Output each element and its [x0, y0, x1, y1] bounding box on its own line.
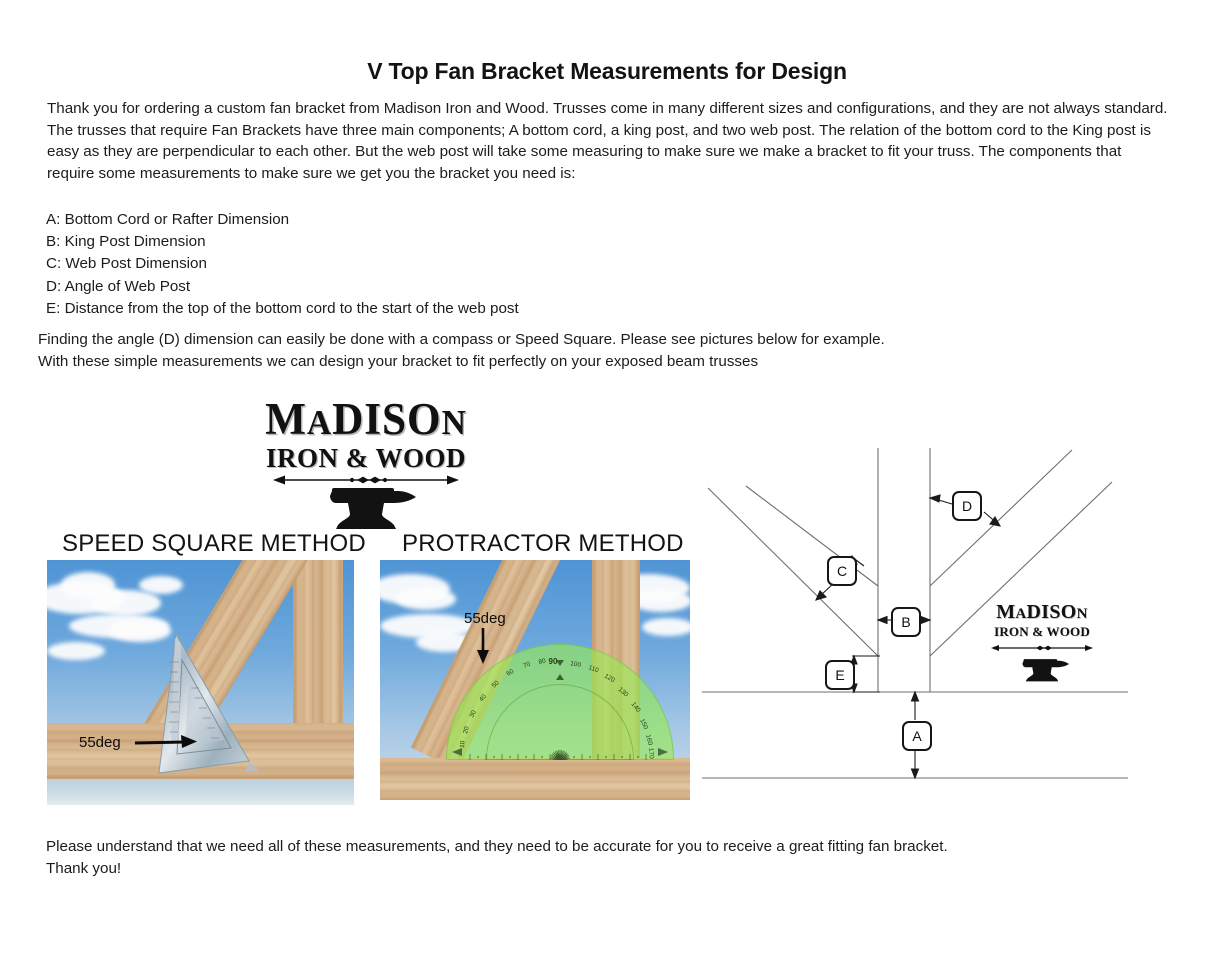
angle-label-protractor: 55deg [464, 610, 506, 627]
right-arrow-icon [133, 732, 201, 752]
svg-text:50: 50 [491, 679, 501, 689]
photo-speed-square-method: 55deg [47, 560, 354, 805]
photo-protractor-method: 90 70 80 100 110 60 50 40 30 20 10 120 1… [380, 560, 690, 800]
right-web-post-upper-line [930, 450, 1072, 586]
brand-logo-ironwood: IRON & WOOD [256, 444, 476, 473]
heading-protractor-method: PROTRACTOR METHOD [402, 530, 684, 558]
svg-text:40: 40 [478, 693, 488, 703]
diagram-logo-ironwood: IRON & WOOD [978, 624, 1106, 639]
svg-text:150: 150 [638, 718, 649, 731]
diagram-brand-logo: MADISON IRON & WOOD [978, 602, 1106, 688]
callout-d[interactable]: D [952, 491, 982, 521]
svg-text:120: 120 [603, 673, 616, 685]
svg-text:160: 160 [644, 734, 654, 747]
diagram-logo-madison: MADISON [978, 602, 1106, 624]
svg-text:130: 130 [617, 686, 630, 699]
brand-logo: MADISON IRON & WOOD [256, 396, 476, 521]
method-note: Finding the angle (D) dimension can easi… [38, 329, 1018, 373]
svg-text:10: 10 [459, 740, 467, 748]
list-item: C: Web Post Dimension [46, 253, 686, 275]
bottom-cord-beam [380, 758, 690, 800]
dimension-list: A: Bottom Cord or Rafter Dimension B: Ki… [46, 209, 686, 320]
heading-speed-square-method: SPEED SQUARE METHOD [62, 530, 366, 558]
svg-text:170: 170 [647, 748, 655, 760]
svg-text:90: 90 [549, 657, 558, 666]
svg-text:80: 80 [538, 658, 547, 666]
closing-text: Please understand that we need all of th… [46, 836, 1106, 880]
cloud-shape [396, 588, 456, 610]
down-arrow-icon [472, 626, 496, 666]
page-title: V Top Fan Bracket Measurements for Desig… [0, 58, 1214, 85]
diagram-double-arrow-divider-icon [990, 644, 1094, 652]
list-item: D: Angle of Web Post [46, 276, 686, 298]
note-line: Finding the angle (D) dimension can easi… [38, 329, 1018, 351]
list-item: A: Bottom Cord or Rafter Dimension [46, 209, 686, 231]
anvil-icon [306, 484, 426, 532]
callout-c[interactable]: C [827, 556, 857, 586]
angle-label-speed-square: 55deg [79, 734, 121, 751]
left-web-post-upper-line [746, 486, 878, 586]
cloud-shape [642, 618, 690, 636]
svg-text:20: 20 [462, 725, 471, 734]
cloud-shape [139, 576, 183, 594]
king-post-beam [293, 560, 343, 728]
callout-b[interactable]: B [891, 607, 921, 637]
svg-text:100: 100 [570, 660, 582, 669]
dimension-e-leader [851, 656, 880, 692]
cloud-shape [47, 642, 105, 660]
intro-paragraph: Thank you for ordering a custom fan brac… [47, 98, 1170, 184]
list-item: E: Distance from the top of the bottom c… [46, 298, 686, 320]
svg-text:70: 70 [522, 661, 532, 670]
speed-square-tool [149, 622, 279, 797]
svg-text:110: 110 [587, 664, 599, 674]
cloud-shape [91, 590, 161, 616]
brand-logo-madison: MADISON [260, 396, 471, 446]
closing-line: Thank you! [46, 858, 1106, 880]
closing-line: Please understand that we need all of th… [46, 836, 1106, 858]
note-line: With these simple measurements we can de… [38, 351, 1018, 373]
list-item: B: King Post Dimension [46, 231, 686, 253]
svg-text:60: 60 [505, 668, 515, 678]
svg-text:140: 140 [629, 701, 641, 714]
svg-text:30: 30 [469, 709, 479, 719]
callout-a[interactable]: A [902, 721, 932, 751]
callout-e[interactable]: E [825, 660, 855, 690]
truss-dimension-diagram: A B C D E MADISON IRON & WOOD [700, 440, 1130, 812]
diagram-anvil-icon [1008, 657, 1076, 683]
